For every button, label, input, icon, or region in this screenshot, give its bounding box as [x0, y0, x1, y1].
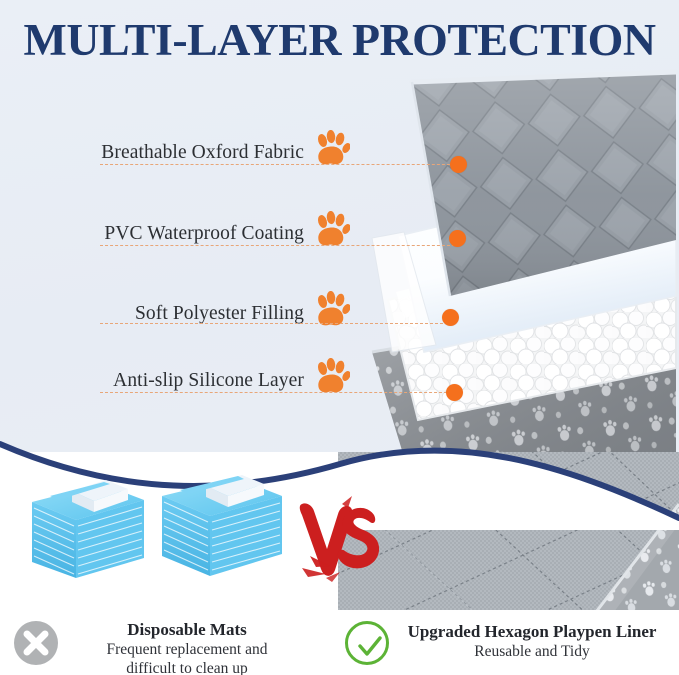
comparison-right-caption: Upgraded Hexagon Playpen Liner Reusable … — [392, 622, 672, 661]
connector-dot — [450, 156, 467, 173]
disposable-mats-illustration — [10, 470, 310, 585]
check-icon — [345, 621, 389, 665]
connector-dot — [442, 309, 459, 326]
paw-icon — [314, 211, 350, 249]
cross-icon — [14, 621, 58, 665]
feature-label: Breathable Oxford Fabric — [32, 142, 304, 164]
mat-stack — [32, 480, 144, 578]
connector-line — [100, 392, 452, 394]
right-line-1: Reusable and Tidy — [392, 642, 672, 661]
feature-label: Anti-slip Silicone Layer — [32, 370, 304, 392]
connector-line — [100, 323, 448, 325]
comparison-left-caption: Disposable Mats Frequent replacement and… — [62, 620, 312, 675]
mat-stack — [162, 475, 282, 576]
left-line-2: difficult to clean up — [62, 659, 312, 675]
paw-icon — [314, 358, 350, 396]
connector-line — [100, 245, 455, 247]
paw-icon — [314, 130, 350, 168]
page-title: MULTI-LAYER PROTECTION — [0, 14, 679, 66]
left-title: Disposable Mats — [62, 620, 312, 640]
right-title: Upgraded Hexagon Playpen Liner — [392, 622, 672, 642]
feature-label: Soft Polyester Filling — [32, 303, 304, 325]
versus-mark — [296, 494, 382, 586]
connector-line — [100, 164, 460, 166]
feature-label: PVC Waterproof Coating — [32, 223, 304, 245]
product-infographic: MULTI-LAYER PROTECTION Breathable Oxford… — [0, 0, 679, 675]
connector-dot — [449, 230, 466, 247]
left-line-1: Frequent replacement and — [62, 640, 312, 659]
connector-dot — [446, 384, 463, 401]
